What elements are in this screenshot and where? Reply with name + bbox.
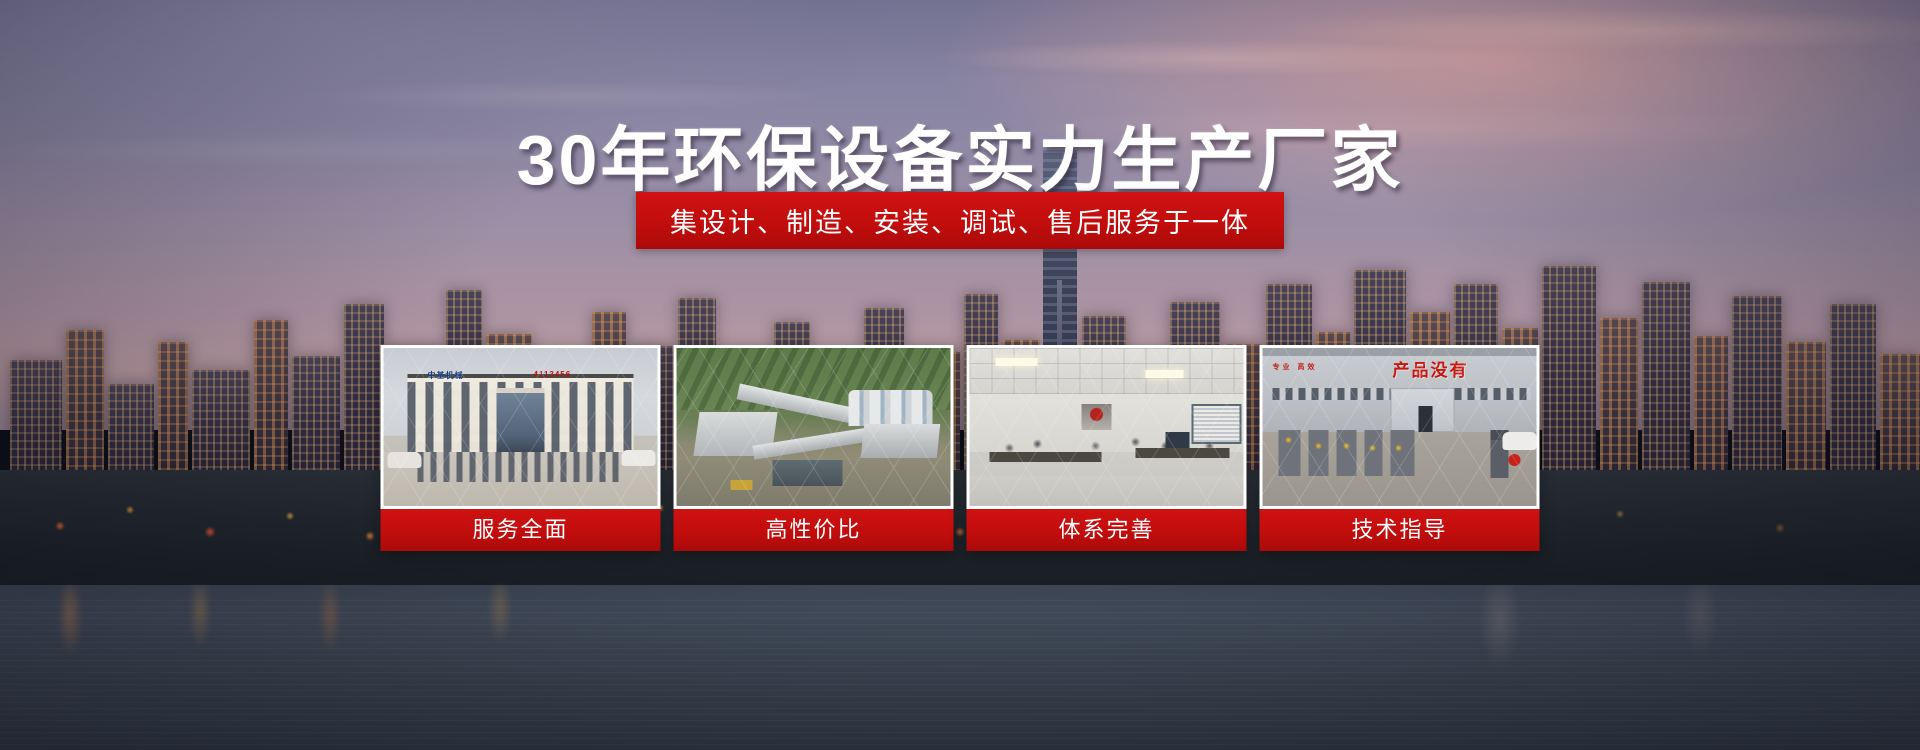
- feature-card[interactable]: 体系完善: [967, 345, 1247, 551]
- card-caption: 技术指导: [1260, 509, 1540, 551]
- feature-card[interactable]: 中基机械 4113456 服务全面: [381, 345, 661, 551]
- feature-card-list: 中基机械 4113456 服务全面 高性价比: [381, 345, 1540, 551]
- feature-card[interactable]: 专业 高效 产品没有 技术指导: [1260, 345, 1540, 551]
- card-caption: 体系完善: [967, 509, 1247, 551]
- office-interior-photo: [970, 348, 1244, 506]
- building-sign-text: 中基机械: [428, 370, 464, 381]
- aerial-factory-plant-photo: [677, 348, 951, 506]
- factory-wall-small-sign: 专业 高效: [1273, 362, 1318, 372]
- building-phone-text: 4113456: [534, 370, 572, 379]
- factory-wall-large-sign: 产品没有: [1393, 356, 1469, 381]
- banner-content: 30年环保设备实力生产厂家 集设计、制造、安装、调试、售后服务于一体 中基机械 …: [0, 0, 1920, 750]
- factory-yard-workers-photo: 专业 高效 产品没有: [1263, 348, 1537, 506]
- hero-banner: 30年环保设备实力生产厂家 集设计、制造、安装、调试、售后服务于一体 中基机械 …: [0, 0, 1920, 750]
- card-caption: 高性价比: [674, 509, 954, 551]
- feature-card[interactable]: 高性价比: [674, 345, 954, 551]
- subtitle-banner: 集设计、制造、安装、调试、售后服务于一体: [636, 192, 1284, 249]
- company-headquarters-photo: 中基机械 4113456: [384, 348, 658, 506]
- card-caption: 服务全面: [381, 509, 661, 551]
- headline-text: 30年环保设备实力生产厂家: [0, 104, 1920, 205]
